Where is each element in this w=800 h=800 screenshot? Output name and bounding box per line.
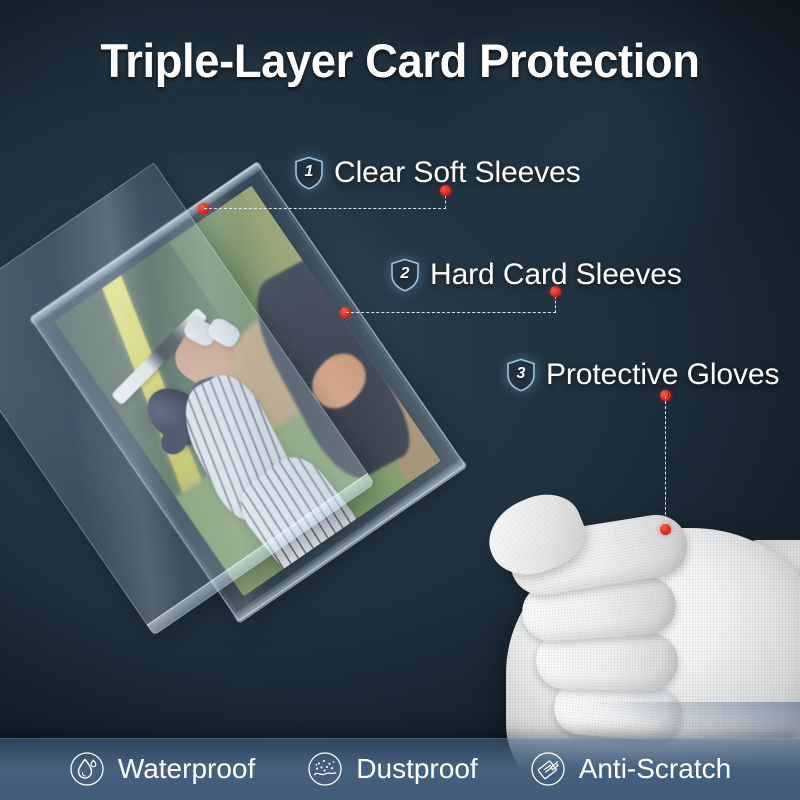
shield-icon: 3 xyxy=(506,358,536,392)
callout-1-leader-horizontal xyxy=(204,208,446,209)
feature-dustproof-label: Dustproof xyxy=(356,753,477,785)
callout-1-label: Clear Soft Sleeves xyxy=(334,156,581,190)
shield-number: 3 xyxy=(506,358,536,392)
shield-icon: 1 xyxy=(294,156,324,190)
feature-dustproof: Dustproof xyxy=(281,751,503,787)
product-infographic: Triple-Layer Card Protection xyxy=(0,0,800,800)
dust-particles-icon xyxy=(307,751,343,787)
water-drop-icon xyxy=(69,751,105,787)
callout-3-leader-vertical xyxy=(665,396,666,530)
callout-1: 1 Clear Soft Sleeves xyxy=(294,156,581,190)
feature-anti-scratch-label: Anti-Scratch xyxy=(579,753,732,785)
scratch-pen-icon xyxy=(530,751,566,787)
feature-waterproof-label: Waterproof xyxy=(118,753,255,785)
card-assembly xyxy=(58,168,518,638)
soft-sleeve-opening-lip xyxy=(147,473,375,636)
shield-number: 2 xyxy=(390,258,420,292)
feature-waterproof: Waterproof xyxy=(43,751,281,787)
callout-3: 3 Protective Gloves xyxy=(506,358,779,392)
feature-anti-scratch: Anti-Scratch xyxy=(504,751,758,787)
page-title: Triple-Layer Card Protection xyxy=(14,33,786,88)
shield-icon: 2 xyxy=(390,258,420,292)
shield-number: 1 xyxy=(294,156,324,190)
callout-3-label: Protective Gloves xyxy=(546,358,779,392)
callout-2-label: Hard Card Sleeves xyxy=(430,258,682,292)
callout-2-leader-horizontal xyxy=(346,312,556,313)
callout-2: 2 Hard Card Sleeves xyxy=(390,258,682,292)
callout-3-anchor-dot xyxy=(660,524,671,535)
feature-bar: Waterproof Dustproo xyxy=(0,738,800,800)
